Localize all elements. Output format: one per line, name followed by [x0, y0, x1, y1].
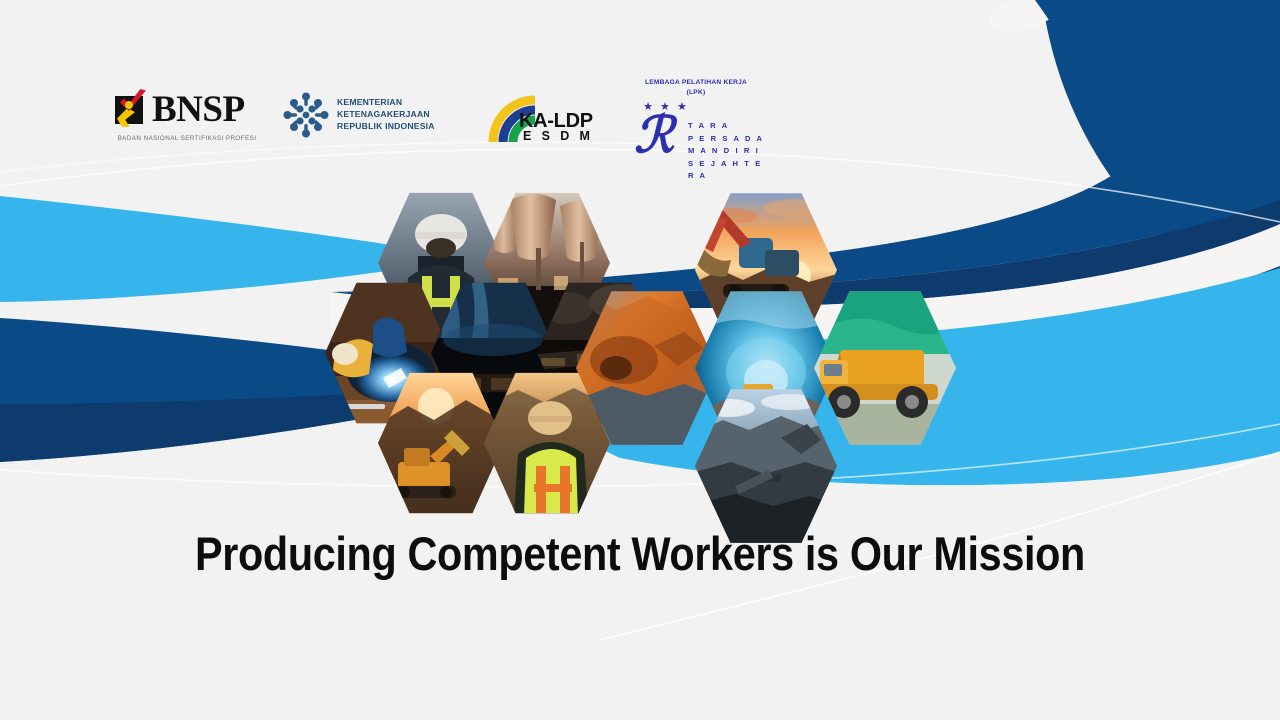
lpk-word-1: T A R A	[688, 120, 766, 133]
lpk-wordmark: T A R A P E R S A D A M A N D I R I S E …	[688, 120, 766, 183]
lpk-tara-persada-logo: LEMBAGA PELATIHAN KERJA (LPK) ★ ★ ★ ℛ T …	[626, 78, 766, 170]
industry-hexagon-collage	[318, 190, 968, 510]
lpk-word-3: M A N D I R I	[688, 145, 766, 158]
kaldp-esdm-logo: KA-LDP E S D M	[487, 86, 607, 148]
kemnaker-logo: KEMENTERIAN KETENAGAKERJAAN REPUBLIK IND…	[283, 92, 435, 138]
kemnaker-wordmark: KEMENTERIAN KETENAGAKERJAAN REPUBLIK IND…	[337, 97, 435, 133]
lpk-header-line-1: LEMBAGA PELATIHAN KERJA	[626, 78, 766, 88]
kemnaker-line-3: REPUBLIK INDONESIA	[337, 121, 435, 133]
lpk-word-2: P E R S A D A	[688, 133, 766, 146]
presentation-slide: BNSP BADAN NASIONAL SERTIFIKASI PROFESI	[0, 0, 1280, 720]
kemnaker-people-diamond-icon	[283, 92, 329, 138]
bnsp-wordmark: BNSP	[152, 91, 245, 128]
lpk-word-4: S E J A H T E R A	[688, 158, 766, 183]
kaldp-subtitle: E S D M	[523, 129, 593, 143]
hex-dump-truck	[814, 288, 956, 448]
lpk-header-line-2: (LPK)	[626, 88, 766, 98]
kemnaker-line-1: KEMENTERIAN	[337, 97, 435, 109]
kemnaker-line-2: KETENAGAKERJAAN	[337, 109, 435, 121]
page-title: Producing Competent Workers is Our Missi…	[77, 526, 1203, 581]
bnsp-figure-icon	[112, 89, 150, 129]
tpms-monogram-icon: ℛ	[634, 110, 674, 160]
bnsp-logo: BNSP BADAN NASIONAL SERTIFIKASI PROFESI	[112, 86, 262, 142]
bnsp-subtitle: BADAN NASIONAL SERTIFIKASI PROFESI	[112, 135, 262, 142]
partner-logo-strip: BNSP BADAN NASIONAL SERTIFIKASI PROFESI	[0, 78, 1280, 170]
lpk-header: LEMBAGA PELATIHAN KERJA (LPK)	[626, 78, 766, 97]
